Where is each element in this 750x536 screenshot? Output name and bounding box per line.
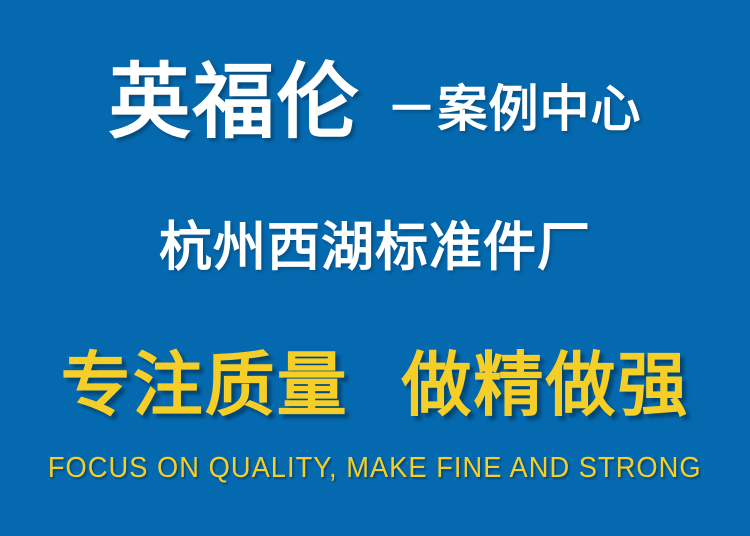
- slogan-chinese: 专注质量 做精做强: [61, 350, 690, 420]
- slogan-english-row: FOCUS ON QUALITY, MAKE FINE AND STRONG: [0, 450, 750, 486]
- factory-name-row: 杭州西湖标准件厂: [0, 212, 750, 282]
- brand-name: 英福伦: [108, 64, 360, 142]
- brand-section-label: －案例中心: [387, 84, 642, 142]
- factory-name: 杭州西湖标准件厂: [159, 221, 591, 274]
- brand-lockup: 英福伦 －案例中心: [0, 38, 750, 142]
- slogan-chinese-row: 专注质量 做精做强: [0, 345, 750, 425]
- slogan-english: FOCUS ON QUALITY, MAKE FINE AND STRONG: [48, 454, 702, 483]
- promo-banner: 英福伦 －案例中心 杭州西湖标准件厂 专注质量 做精做强 FOCUS ON QU…: [0, 0, 750, 536]
